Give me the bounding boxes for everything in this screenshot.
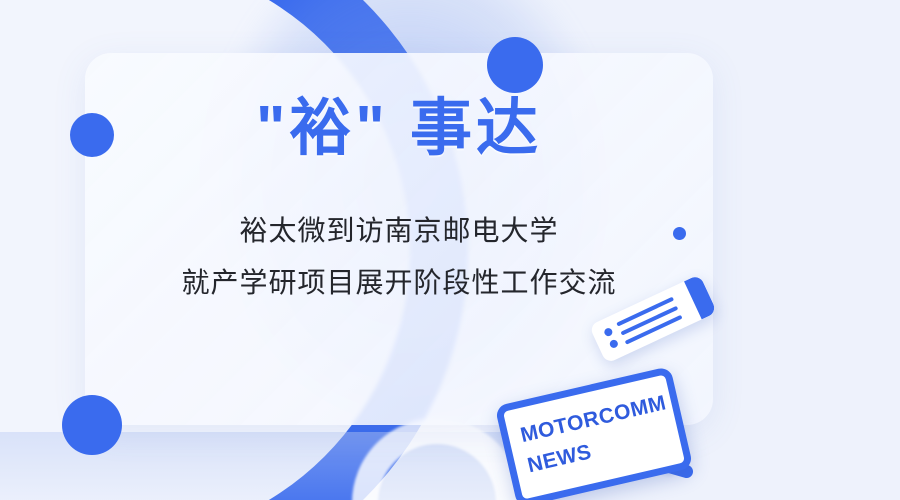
blue-circle-top-right: [487, 37, 543, 93]
bullet-dot-icon: [609, 339, 620, 350]
subtitle-line-2: 就产学研项目展开阶段性工作交流: [85, 257, 713, 309]
page-subtitle: 裕太微到访南京邮电大学 就产学研项目展开阶段性工作交流: [85, 205, 713, 309]
page-title: "裕" 事达: [85, 95, 713, 163]
news-banner: "裕" 事达 裕太微到访南京邮电大学 就产学研项目展开阶段性工作交流 MOTOR…: [0, 0, 900, 500]
subtitle-line-1: 裕太微到访南京邮电大学: [85, 205, 713, 257]
blue-circle-bottom-left: [62, 395, 122, 455]
bullet-dot-icon: [603, 327, 614, 338]
news-card-text: MOTORCOMM NEWS: [517, 388, 671, 481]
